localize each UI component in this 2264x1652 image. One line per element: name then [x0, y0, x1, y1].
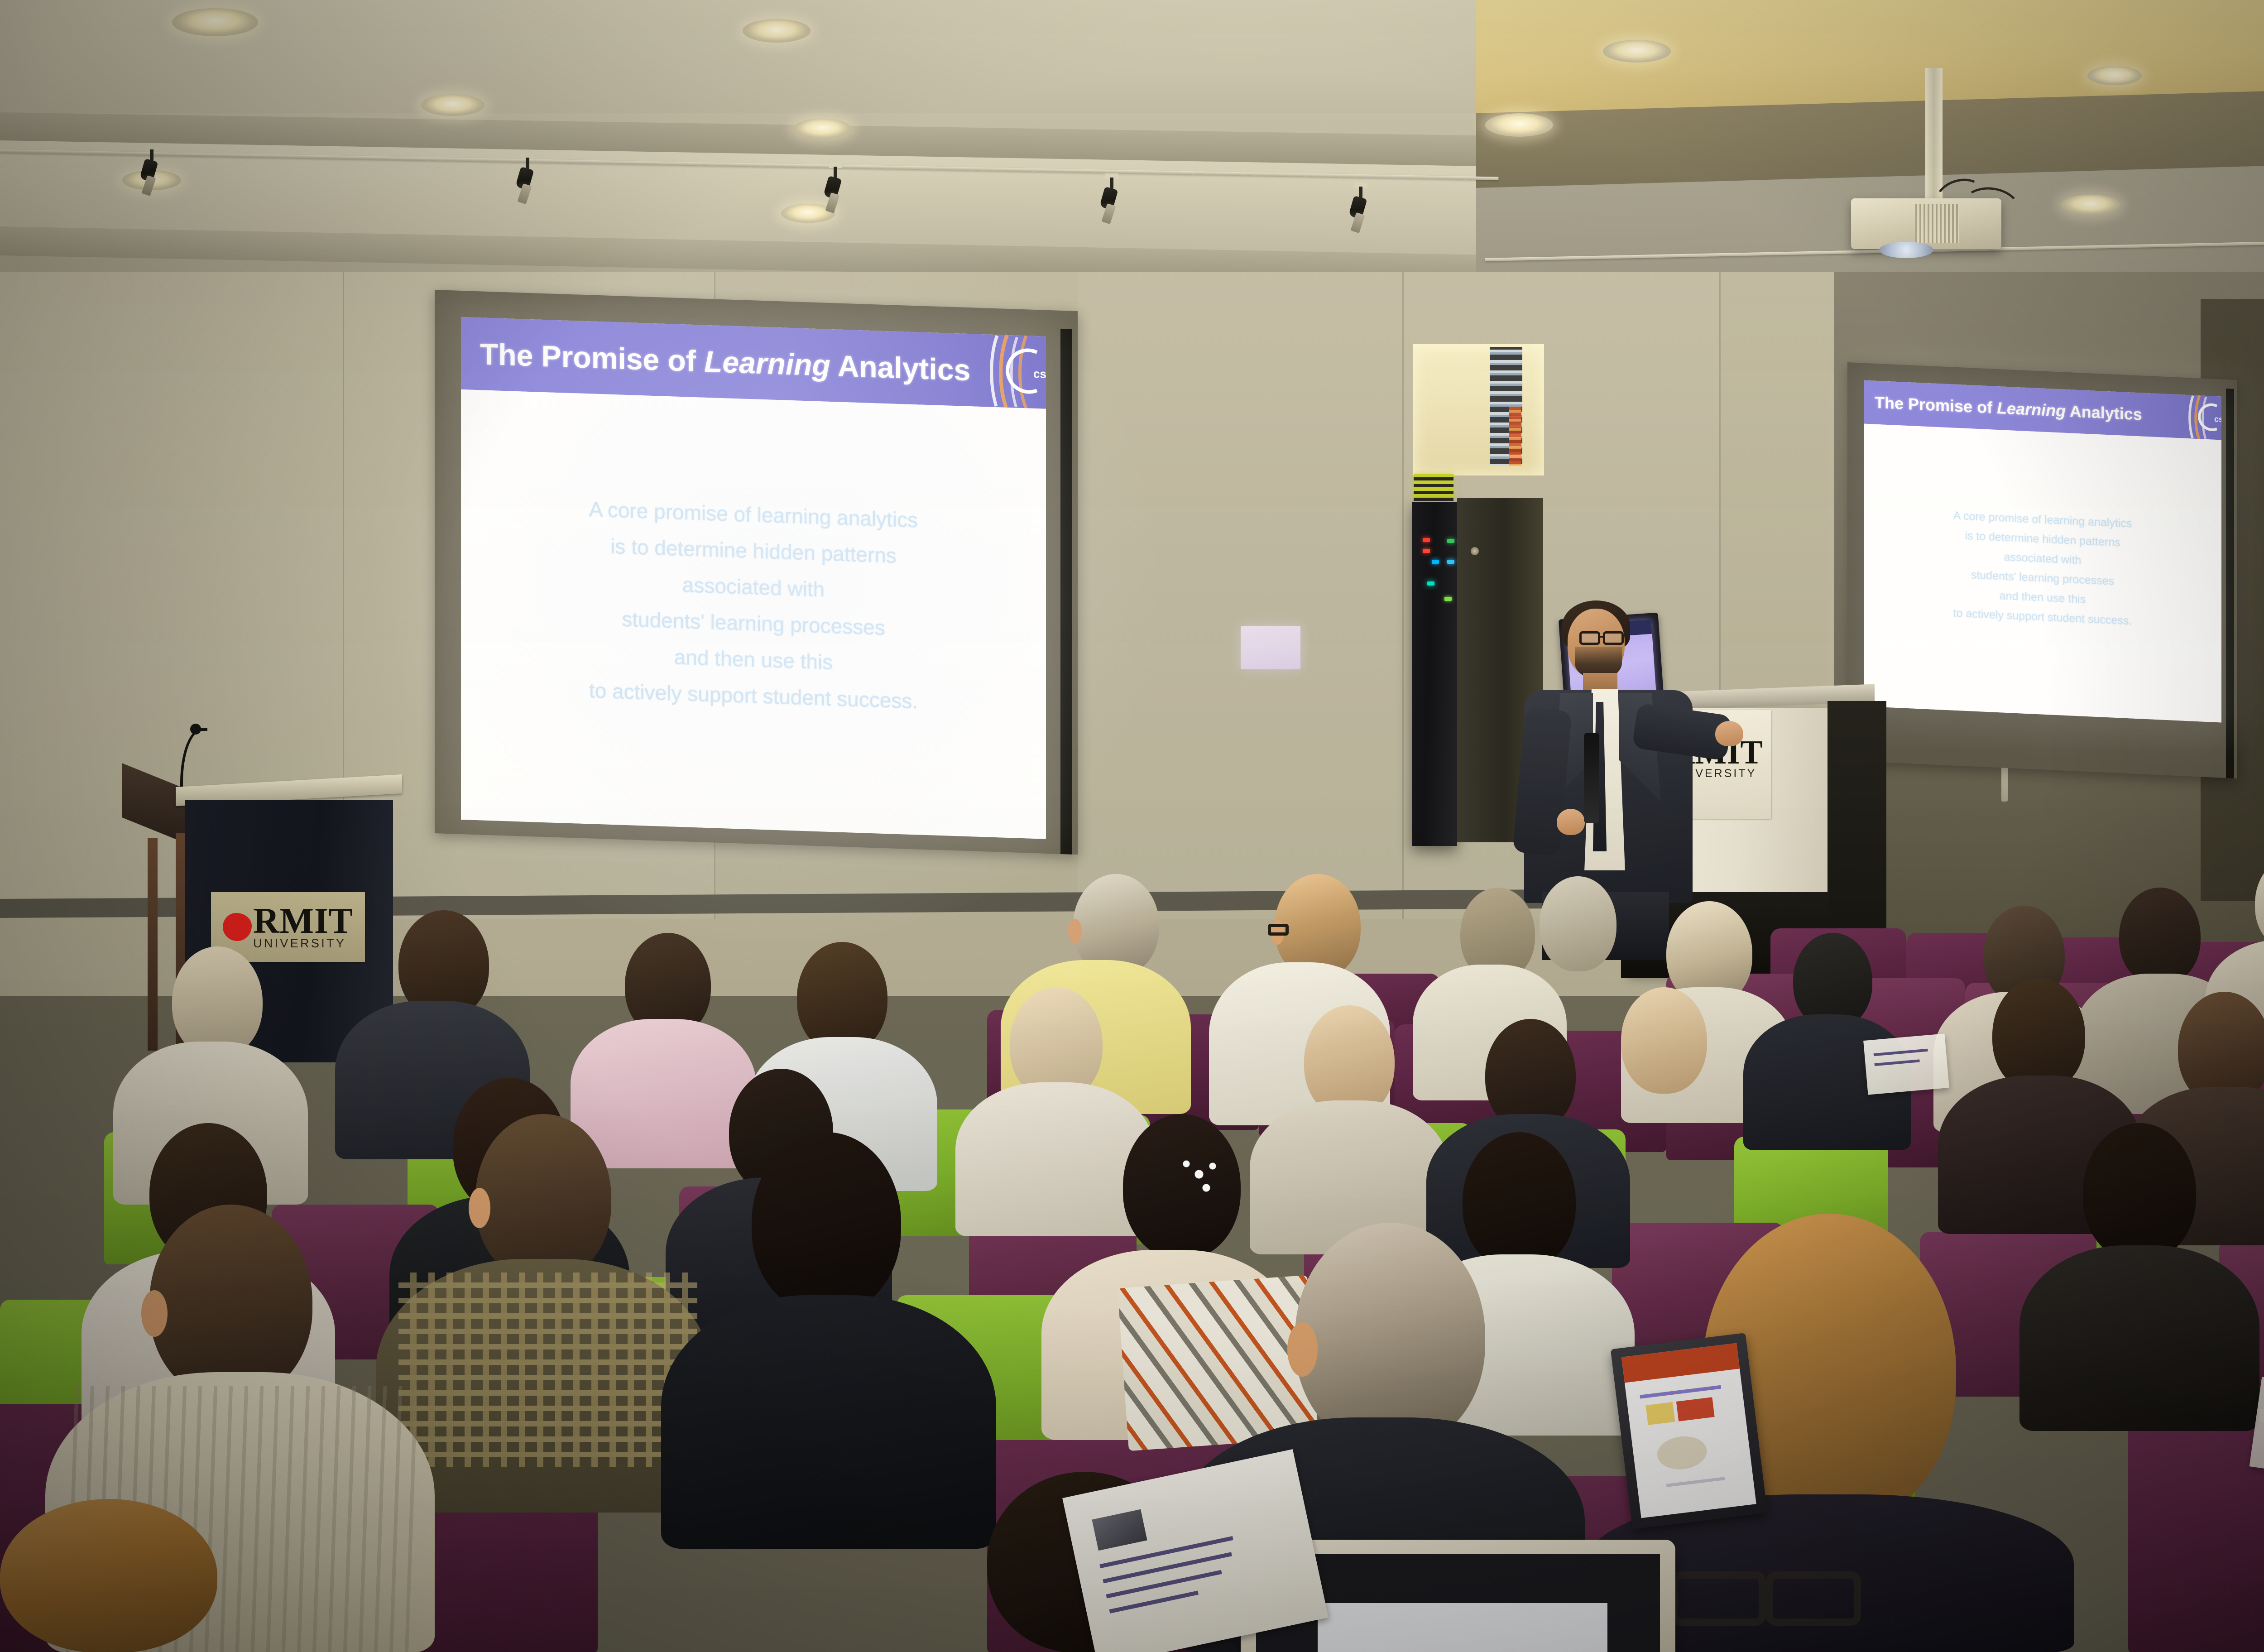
seat[interactable]: [2128, 1422, 2264, 1652]
rack-led-red: [1423, 549, 1430, 553]
audience-head: [172, 946, 263, 1057]
audience-head-foreground: [1295, 1223, 1485, 1449]
screen-content-block: [1645, 1402, 1675, 1425]
spotlight-stem: [526, 158, 529, 169]
presenter-hand-right: [1715, 721, 1743, 746]
patch-panel: [1414, 474, 1453, 504]
slide-body-line: to actively support student success.: [589, 678, 918, 713]
slide-body-line: and then use this: [674, 645, 833, 675]
cshe-logo-text: cshe: [1033, 367, 1046, 381]
audience-head: [1540, 876, 1616, 971]
downlight: [1485, 113, 1553, 137]
screen-content-block: [1676, 1397, 1715, 1421]
slide-body: A core promise of learning analytics is …: [461, 389, 1046, 839]
cshe-logo: cshe: [901, 331, 1046, 409]
slide2-title-suffix: Analytics: [2066, 402, 2142, 424]
slide2-title-prefix: The Promise of: [1875, 393, 1997, 417]
downlight: [421, 94, 484, 116]
audience-body-foreground: [661, 1295, 996, 1549]
spotlight-stem: [1110, 178, 1113, 189]
audience-head-foreground: [0, 1499, 217, 1652]
head-shape: [475, 1114, 611, 1282]
slide-title-italic: Learning: [704, 345, 830, 382]
microphone-head-icon: [190, 724, 201, 735]
rmit-dot-icon: [223, 913, 252, 941]
ear: [1068, 919, 1082, 943]
track-spotlight: [1354, 187, 1367, 236]
audience-head: [2255, 856, 2264, 951]
lecture-theatre-photo: The Promise of Learning Analytics cshe A: [0, 0, 2264, 1652]
slide-body-line: A core promise of learning analytics: [589, 497, 918, 532]
downlight: [743, 19, 811, 43]
audience-head-foreground: [149, 1205, 312, 1399]
head-shape: [2255, 856, 2264, 951]
slide2-surface: The Promise of Learning Analytics cshe A…: [1864, 380, 2221, 723]
head-shape: [0, 1499, 217, 1652]
slide-title: The Promise of Learning Analytics: [480, 336, 970, 387]
patterned-shirt: [398, 1273, 697, 1467]
eyeglasses-foreground: [1766, 1571, 1861, 1626]
head-shape: [2083, 1123, 2196, 1261]
av-rack-lock: [1471, 547, 1479, 555]
downlight: [172, 8, 258, 36]
eyeglasses: [1268, 924, 1289, 936]
wall-sign: [1241, 626, 1300, 669]
slide2-body-line: A core promise of learning analytics: [1953, 509, 2132, 531]
slide-body-line: associated with: [682, 572, 825, 601]
slide2-title-italic: Learning: [1997, 399, 2066, 420]
audience-head: [2083, 1123, 2196, 1261]
ear: [1287, 1322, 1318, 1377]
printed-handout[interactable]: [1863, 1033, 1949, 1095]
slide2-title: The Promise of Learning Analytics: [1875, 393, 2142, 424]
screen-content-row: [1655, 1434, 1709, 1472]
main-projection-screen: The Promise of Learning Analytics cshe A: [435, 290, 1078, 855]
screen2-right-edge: [2226, 389, 2234, 778]
downlight: [1603, 40, 1671, 62]
eyeglasses-foreground: [1671, 1571, 1766, 1626]
handout-text-line: [1103, 1552, 1232, 1583]
downlight: [2087, 66, 2142, 85]
head-shape: [172, 946, 263, 1057]
niche-artwork-warm: [1509, 407, 1521, 466]
slide2-body-line: associated with: [2004, 551, 2082, 567]
rack-led-cyan: [1432, 560, 1439, 564]
track-spotlight: [145, 149, 158, 199]
handout-thumbnail: [1092, 1509, 1147, 1551]
audience-head-foreground: [475, 1114, 611, 1282]
head-shape: [797, 942, 887, 1053]
wall-panel: [1078, 272, 1404, 919]
audience-head: [1621, 987, 1707, 1094]
slide2-body: A core promise of learning analytics is …: [1864, 424, 2221, 723]
presenter-hand-left: [1557, 809, 1585, 835]
head-shape: [752, 1132, 901, 1313]
rack-led-green: [1444, 597, 1452, 601]
head-shape: [1621, 987, 1707, 1094]
wall-light-niche: [1413, 344, 1544, 475]
projector-lens: [1879, 242, 1933, 258]
slide-body-line: students' learning processes: [622, 607, 885, 640]
downlight: [2061, 195, 2120, 215]
rack-led-cyan: [1447, 560, 1454, 564]
track-spotlight: [829, 167, 842, 216]
slide-surface: The Promise of Learning Analytics cshe A: [461, 317, 1046, 839]
handout-text-line: [1874, 1049, 1928, 1056]
head-shape: [1295, 1223, 1485, 1449]
rmit-sub-wordmark: UNIVERSITY: [253, 938, 353, 949]
track-spotlight: [521, 158, 534, 207]
slide-body-line: is to determine hidden patterns: [610, 534, 897, 568]
podium-side-frame: [148, 838, 158, 1051]
presenter-glasses-bridge: [1599, 636, 1605, 638]
track-spotlight: [1105, 178, 1118, 227]
laptop-screen-content: [1318, 1603, 1607, 1652]
tablet-screen[interactable]: [1621, 1343, 1756, 1518]
screen-right-edge: [1060, 329, 1072, 855]
cshe-logo-text-secondary: cshe: [2214, 414, 2221, 424]
screen-content-row: [1640, 1385, 1722, 1399]
head-shape: [149, 1205, 312, 1399]
screen-content-row: [1666, 1477, 1725, 1487]
head-shape: [1540, 876, 1616, 971]
hair-ornament: [1177, 1153, 1223, 1198]
spotlight-stem: [150, 149, 153, 161]
spotlight-stem: [1359, 187, 1362, 198]
rack-led-red: [1423, 538, 1430, 542]
cshe-logo-secondary: cshe: [2135, 393, 2221, 440]
rack-led-green: [1447, 539, 1454, 543]
rack-led-teal: [1427, 581, 1434, 586]
presenter-glasses: [1603, 631, 1624, 645]
slide-title-prefix: The Promise of: [480, 337, 704, 378]
attendee-tablet[interactable]: [1611, 1333, 1768, 1529]
presenter-glasses: [1579, 631, 1600, 645]
audience-head: [2119, 888, 2201, 985]
audience-body: [2019, 1245, 2259, 1431]
slide2-body-line: to actively support student success.: [1953, 607, 2132, 628]
head-shape: [2119, 888, 2201, 985]
handheld-microphone[interactable]: [1584, 733, 1599, 823]
projector-mount-pole: [1925, 68, 1943, 204]
handout-text-line: [1106, 1570, 1222, 1599]
ear: [469, 1188, 490, 1228]
audience-head: [797, 942, 887, 1053]
podium-left: RMIT UNIVERSITY: [122, 720, 412, 1064]
spotlight-stem: [834, 167, 837, 178]
scarf: [1118, 1275, 1319, 1451]
ear: [141, 1290, 168, 1337]
downlight: [793, 119, 851, 139]
av-equipment-rack: [1412, 502, 1457, 846]
rmit-wordmark: RMIT: [253, 905, 353, 938]
audience-head-foreground: [752, 1132, 901, 1313]
slide2-body-line: students' learning processes: [1971, 568, 2114, 588]
handout-text-line: [1875, 1059, 1920, 1066]
slide2-body-line: is to determine hidden patterns: [1965, 529, 2120, 550]
slide2-body-line: and then use this: [2000, 589, 2086, 606]
